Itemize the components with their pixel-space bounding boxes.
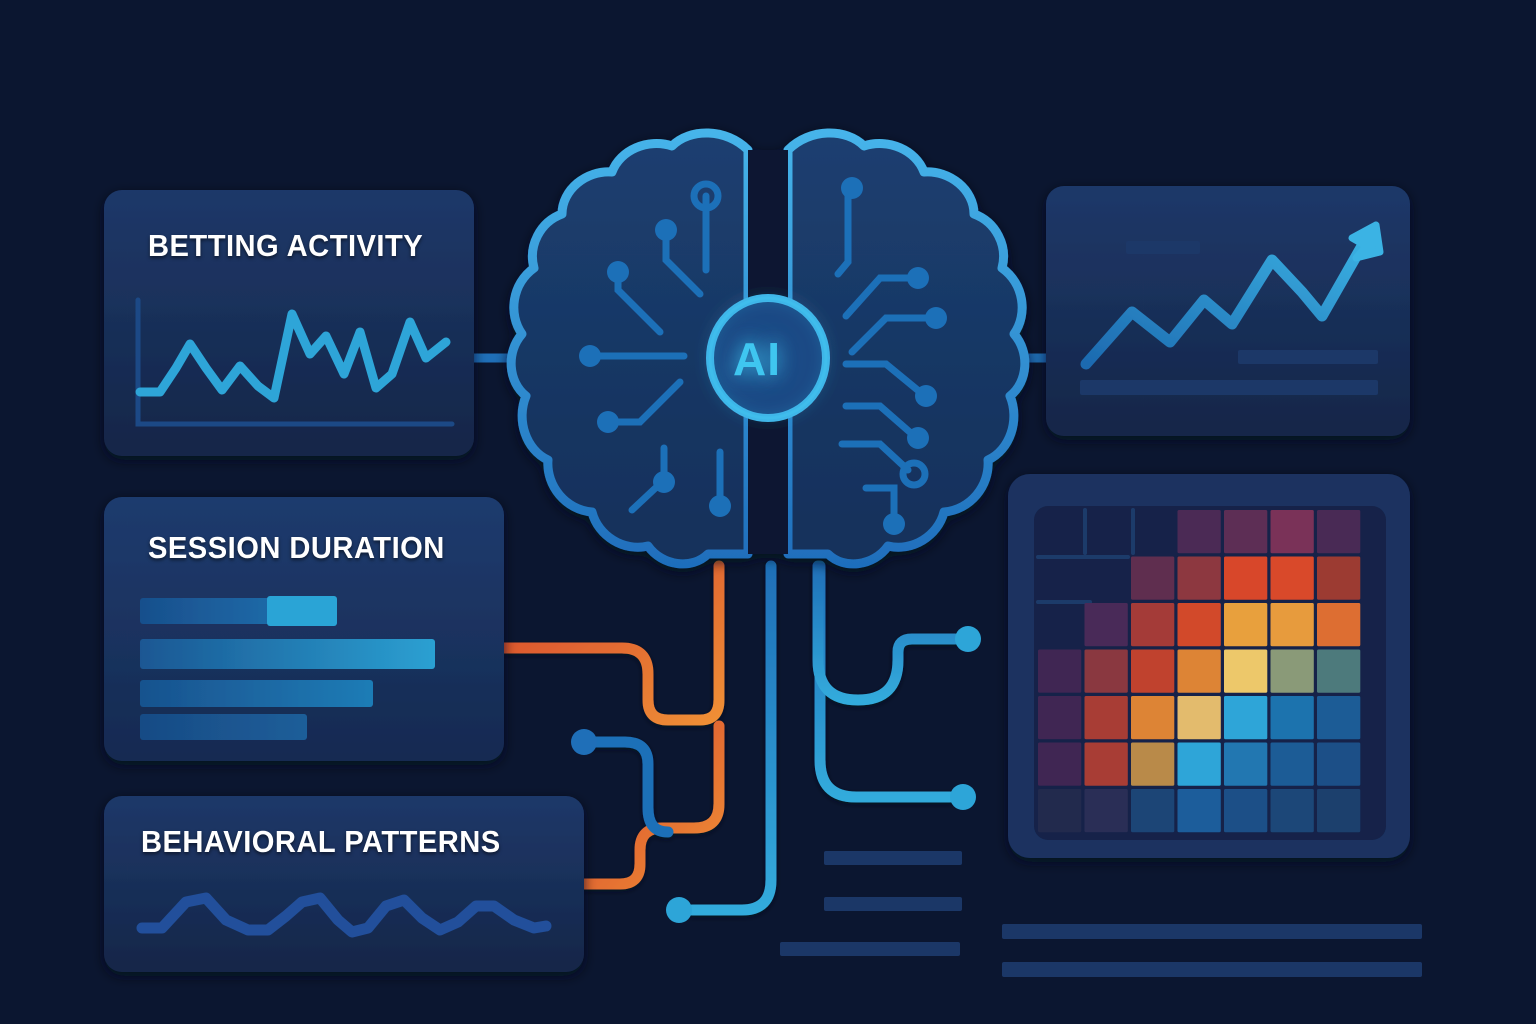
heatmap-cell (1271, 557, 1314, 600)
placeholder-bar (1126, 241, 1200, 254)
heatmap-cell (1317, 696, 1360, 739)
card-title-behavioral-patterns: BEHAVIORAL PATTERNS (141, 824, 501, 860)
node-upper-right-icon (955, 626, 981, 652)
heatmap-cell (1038, 696, 1081, 739)
card-title-betting-activity: BETTING ACTIVITY (148, 228, 423, 264)
heatmap-cell (1038, 650, 1081, 693)
bar-row-2 (140, 639, 435, 669)
heatmap-cell (1131, 557, 1174, 600)
heatmap-cell (1271, 603, 1314, 646)
bar-row-3 (140, 680, 373, 707)
heatmap-cell (1224, 650, 1267, 693)
heatmap-cell (1224, 789, 1267, 832)
heatmap-cell (1038, 789, 1081, 832)
infographic-svg (0, 0, 1536, 1024)
placeholder-bar (824, 897, 962, 911)
heatmap-cell (1131, 603, 1174, 646)
placeholder-bar (1002, 924, 1422, 939)
heatmap-cell (1178, 510, 1221, 553)
node-bottom-left-icon (666, 897, 692, 923)
heatmap-cell (1317, 789, 1360, 832)
heatmap-cell (1224, 510, 1267, 553)
heatmap-cell (1271, 789, 1314, 832)
heatmap-cell (1178, 696, 1221, 739)
heatmap-cell (1317, 557, 1360, 600)
heatmap-cell (1178, 557, 1221, 600)
heatmap-cell (1317, 603, 1360, 646)
node-lower-right-icon (950, 784, 976, 810)
heatmap-cell (1178, 650, 1221, 693)
heatmap-cell (1271, 650, 1314, 693)
card-trend-chart[interactable] (1046, 186, 1410, 436)
heatmap-cell (1317, 743, 1360, 786)
heatmap-cell (1131, 789, 1174, 832)
heatmap-cell (1224, 696, 1267, 739)
bar-row-1-base (140, 598, 276, 624)
heatmap-cell (1178, 743, 1221, 786)
heatmap-cell (1178, 603, 1221, 646)
placeholder-bar (1080, 380, 1378, 395)
heatmap-cell (1224, 557, 1267, 600)
heatmap-cell (1131, 696, 1174, 739)
heatmap-cell (1085, 650, 1128, 693)
heatmap-cell (1085, 603, 1128, 646)
heatmap-cell (1178, 789, 1221, 832)
heatmap-cell (1085, 789, 1128, 832)
heatmap-cell (1131, 650, 1174, 693)
bar-row-1-highlight (267, 596, 337, 626)
heatmap-cell (1271, 696, 1314, 739)
heatmap-cell (1038, 743, 1081, 786)
placeholder-bar (1238, 350, 1378, 364)
placeholder-bar (824, 851, 962, 865)
heatmap-cell (1224, 743, 1267, 786)
placeholder-bar (1002, 962, 1422, 977)
heatmap-cell (1131, 743, 1174, 786)
heatmap-cell (1317, 510, 1360, 553)
card-heatmap[interactable] (1008, 474, 1410, 858)
placeholder-bar (780, 942, 960, 956)
heatmap-cell (1317, 650, 1360, 693)
heatmap-cell (1271, 743, 1314, 786)
infographic-canvas: BETTING ACTIVITY SESSION DURATION BEHAVI… (0, 0, 1536, 1024)
heatmap-cell (1271, 510, 1314, 553)
card-behavioral-patterns[interactable] (104, 796, 584, 972)
card-title-session-duration: SESSION DURATION (148, 530, 445, 566)
heatmap-cell (1085, 696, 1128, 739)
heatmap-cell (1224, 603, 1267, 646)
bar-row-4 (140, 714, 307, 740)
node-mid-left-icon (571, 729, 597, 755)
ai-core-label: AI (733, 332, 781, 386)
heatmap-cell (1085, 743, 1128, 786)
